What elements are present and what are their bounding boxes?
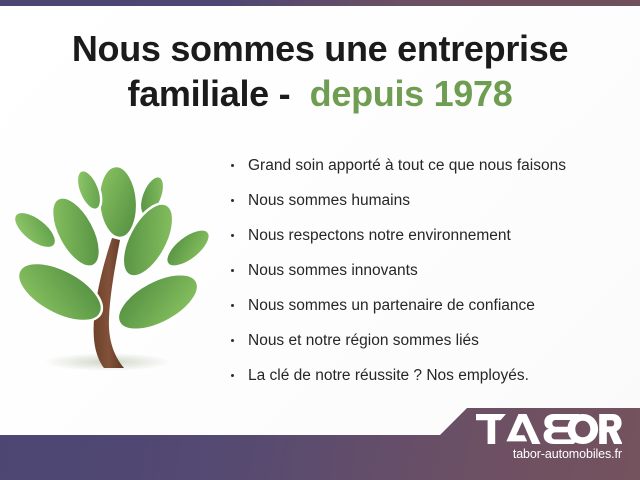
list-item: Nous et notre région sommes liés xyxy=(228,323,628,358)
brand-logo[interactable]: tabor-automobiles.fr xyxy=(476,414,628,470)
bullet-dot-icon xyxy=(231,199,234,202)
list-item: Nous respectons notre environnement xyxy=(228,218,628,253)
brand-url: tabor-automobiles.fr xyxy=(476,447,622,461)
bullet-dot-icon xyxy=(231,234,234,237)
list-item-label: Grand soin apporté à tout ce que nous fa… xyxy=(248,157,566,174)
page-title: Nous sommes une entreprise familiale - d… xyxy=(20,26,620,117)
bullet-dot-icon xyxy=(231,374,234,377)
bullet-dot-icon xyxy=(231,269,234,272)
tree-svg xyxy=(8,150,213,390)
bullet-dot-icon xyxy=(231,339,234,342)
benefits-list: Grand soin apporté à tout ce que nous fa… xyxy=(228,148,628,393)
list-item-label: Nous et notre région sommes liés xyxy=(248,332,479,349)
list-item: Grand soin apporté à tout ce que nous fa… xyxy=(228,148,628,183)
headline-accent: depuis 1978 xyxy=(310,73,513,114)
headline-line-2: familiale - depuis 1978 xyxy=(20,71,620,116)
headline-line-2-plain: familiale - xyxy=(128,73,291,114)
list-item-label: Nous respectons notre environnement xyxy=(248,227,511,244)
list-item: Nous sommes innovants xyxy=(228,253,628,288)
tabor-wordmark-icon xyxy=(476,414,622,444)
top-accent-bar xyxy=(0,0,640,6)
bullet-dot-icon xyxy=(231,164,234,167)
slide-canvas: Nous sommes une entreprise familiale - d… xyxy=(0,0,640,480)
list-item-label: Nous sommes innovants xyxy=(248,262,418,279)
list-item-label: Nous sommes humains xyxy=(248,192,410,209)
list-item-label: La clé de notre réussite ? Nos employés. xyxy=(248,367,529,384)
tree-illustration xyxy=(8,150,213,390)
headline-line-1: Nous sommes une entreprise xyxy=(20,26,620,71)
list-item: La clé de notre réussite ? Nos employés. xyxy=(228,358,628,393)
list-item: Nous sommes humains xyxy=(228,183,628,218)
list-item: Nous sommes un partenaire de confiance xyxy=(228,288,628,323)
list-item-label: Nous sommes un partenaire de confiance xyxy=(248,297,535,314)
bullet-dot-icon xyxy=(231,304,234,307)
